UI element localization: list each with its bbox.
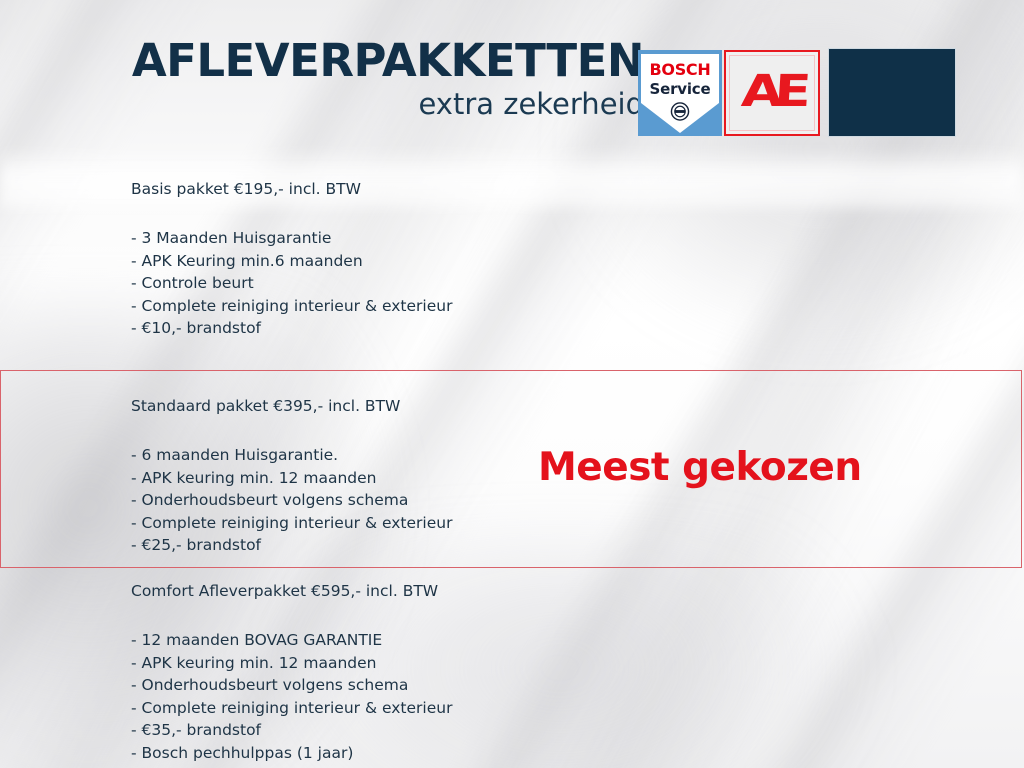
package-standaard: Standaard pakket €395,- incl. BTW - 6 ma… [131, 396, 452, 557]
list-item: - APK keuring min. 12 maanden [131, 652, 452, 675]
list-item: - 3 Maanden Huisgarantie [131, 227, 452, 250]
list-item: - Complete reiniging interieur & exterie… [131, 697, 452, 720]
blank-logo-placeholder [828, 48, 956, 137]
page-title: AFLEVERPAKKETTEN [88, 36, 644, 86]
list-item: - Bosch pechhulppas (1 jaar) [131, 742, 452, 765]
list-item: - 6 maanden Huisgarantie. [131, 444, 452, 467]
package-standaard-title: Standaard pakket €395,- incl. BTW [131, 396, 452, 417]
package-basis-title: Basis pakket €195,- incl. BTW [131, 179, 452, 200]
package-basis-feature-list: - 3 Maanden Huisgarantie - APK Keuring m… [131, 227, 452, 340]
list-item: - Complete reiniging interieur & exterie… [131, 512, 452, 535]
page-subtitle: extra zekerheid [88, 87, 644, 121]
package-comfort: Comfort Afleverpakket €595,- incl. BTW -… [131, 581, 452, 765]
slide-canvas: AFLEVERPAKKETTEN extra zekerheid BOSCH S… [0, 0, 1024, 768]
bosch-service-label: Service [638, 80, 722, 98]
list-item: - €35,- brandstof [131, 719, 452, 742]
package-standaard-feature-list: - 6 maanden Huisgarantie. - APK keuring … [131, 444, 452, 557]
most-chosen-label: Meest gekozen [538, 446, 862, 490]
bosch-wordmark: BOSCH [638, 60, 722, 79]
list-item: - Controle beurt [131, 272, 452, 295]
slide-header: AFLEVERPAKKETTEN extra zekerheid BOSCH S… [0, 0, 1024, 148]
package-basis: Basis pakket €195,- incl. BTW - 3 Maande… [131, 179, 452, 340]
list-item: - Complete reiniging interieur & exterie… [131, 295, 452, 318]
bosch-armature-icon [671, 102, 690, 121]
list-item: - APK keuring min. 12 maanden [131, 467, 452, 490]
ae-logo: AE [724, 50, 820, 136]
list-item: - Onderhoudsbeurt volgens schema [131, 674, 452, 697]
ae-wordmark: AE [740, 70, 804, 114]
list-item: - Onderhoudsbeurt volgens schema [131, 489, 452, 512]
list-item: - €10,- brandstof [131, 317, 452, 340]
package-comfort-title: Comfort Afleverpakket €595,- incl. BTW [131, 581, 452, 602]
list-item: - €25,- brandstof [131, 534, 452, 557]
brand-block: AFLEVERPAKKETTEN extra zekerheid [88, 36, 644, 121]
list-item: - APK Keuring min.6 maanden [131, 250, 452, 273]
ae-logo-frame: AE [729, 55, 815, 131]
list-item: - 12 maanden BOVAG GARANTIE [131, 629, 452, 652]
package-comfort-feature-list: - 12 maanden BOVAG GARANTIE - APK keurin… [131, 629, 452, 765]
bosch-service-logo: BOSCH Service [638, 50, 722, 136]
